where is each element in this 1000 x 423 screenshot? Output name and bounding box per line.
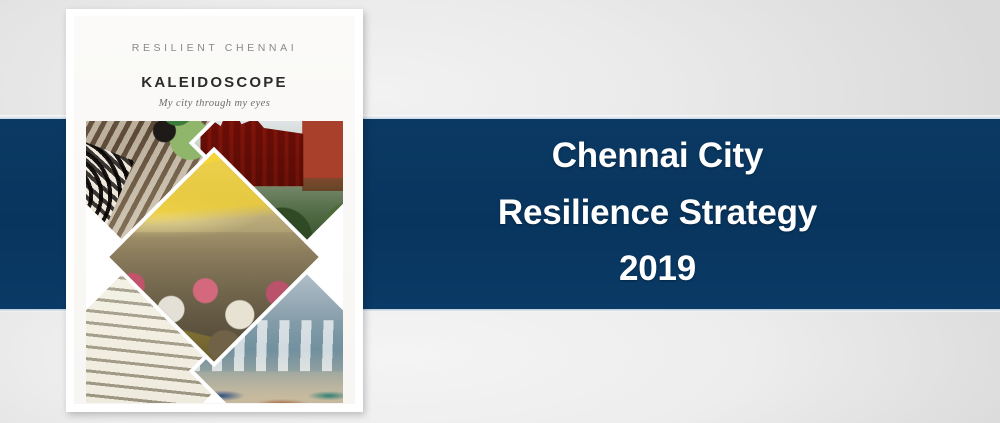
cover-subtitle-text: My city through my eyes (74, 98, 355, 109)
cover-eyebrow-text: RESILIENT CHENNAI (74, 42, 355, 54)
title-line-1: Chennai City (430, 128, 885, 185)
title-line-2: Resilience Strategy (430, 185, 885, 242)
cover-title-text: KALEIDOSCOPE (74, 74, 355, 91)
book-cover-page: RESILIENT CHENNAI KALEIDOSCOPE My city t… (74, 16, 355, 404)
book-cover-image: RESILIENT CHENNAI KALEIDOSCOPE My city t… (66, 9, 363, 412)
slide-title: Chennai City Resilience Strategy 2019 (430, 128, 885, 298)
cover-photo-collage (86, 121, 343, 403)
title-line-3: 2019 (430, 241, 885, 298)
presentation-slide: Chennai City Resilience Strategy 2019 RE… (0, 0, 1000, 423)
